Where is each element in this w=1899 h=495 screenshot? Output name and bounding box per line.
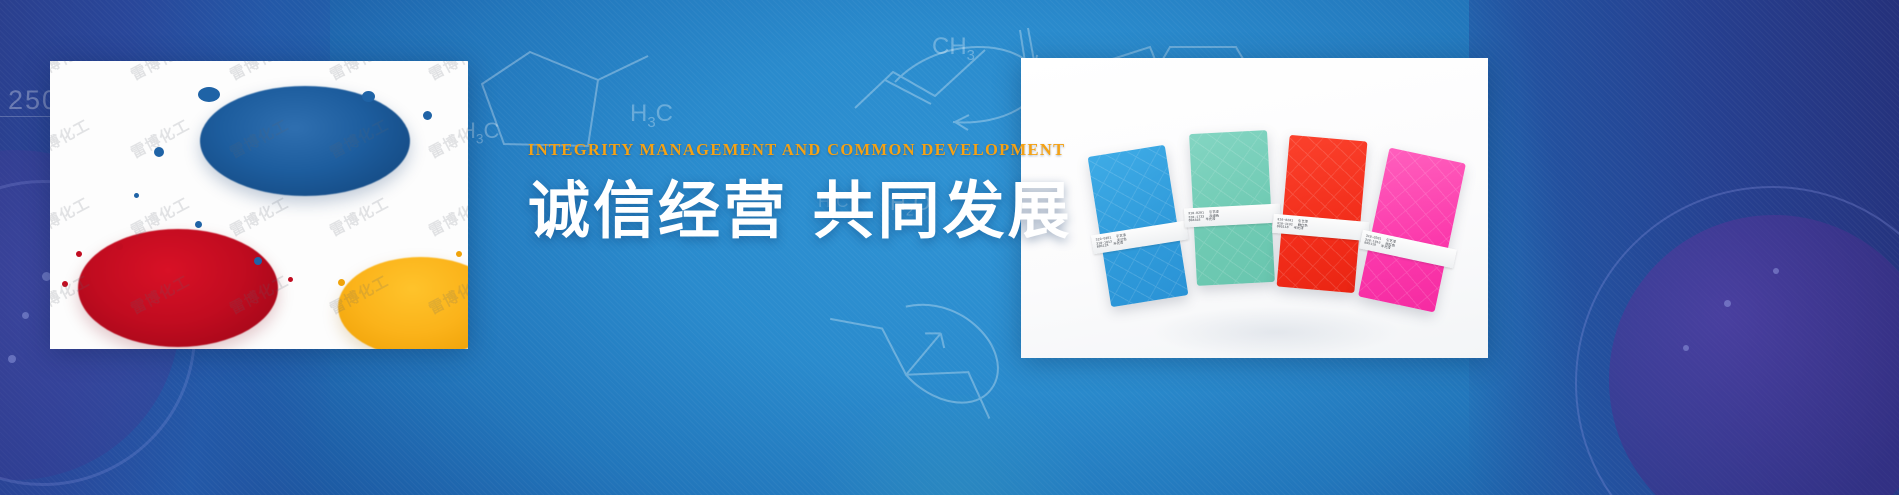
- pigment-powder-photo[interactable]: 雷博化工 雷博化工 雷博化工 雷博化工 雷博化工 雷博化工 雷博化工 雷博化工 …: [50, 61, 468, 349]
- card-cn-3: 半光漆: [1113, 242, 1123, 247]
- table-shadow: [1151, 306, 1401, 358]
- banner-eyebrow: INTEGRITY MANAGEMENT AND COMMON DEVELOPM…: [528, 140, 1028, 160]
- red-pigment-pile: [78, 229, 278, 347]
- h3c-label: H3C: [630, 100, 673, 131]
- ch3-subscript: 3: [967, 48, 975, 64]
- h3c-h-text: H: [630, 100, 647, 127]
- pigment-speck: [456, 251, 462, 257]
- card-cn-3: 半光漆: [1293, 227, 1303, 232]
- red-swatch-card: 310-0201引艺漆 310-1132鲜红色 805118半光漆: [1277, 135, 1368, 293]
- banner-headline: 诚信经营 共同发展: [528, 176, 1028, 245]
- h3c-c-text: C: [656, 100, 673, 127]
- ch3-text: CH: [932, 33, 967, 60]
- pigment-speck: [362, 91, 375, 102]
- pigment-speck: [134, 193, 139, 198]
- ch3-label: CH3: [932, 33, 975, 64]
- card-code-3: 804318: [1189, 219, 1201, 223]
- decoration-dot: [8, 355, 16, 363]
- pigment-speck: [198, 87, 220, 102]
- blue-pigment-pile: [200, 86, 410, 196]
- ring-molecule-icon: [835, 10, 1050, 145]
- card-texture: [1277, 135, 1368, 293]
- pigment-speck: [288, 277, 293, 282]
- decoration-dot: [1683, 345, 1689, 351]
- decoration-dot: [1773, 268, 1779, 274]
- pigment-speck: [254, 257, 262, 265]
- decoration-dot: [22, 312, 29, 319]
- banner-text-block: INTEGRITY MANAGEMENT AND COMMON DEVELOPM…: [528, 140, 1028, 245]
- pigment-speck: [62, 281, 68, 287]
- pigment-speck: [195, 221, 202, 228]
- green-swatch-card: 310-0201引艺漆 310-1733灰绿色 804318半光漆: [1189, 130, 1275, 286]
- decoration-dot: [1724, 300, 1731, 307]
- card-cn-3: 半光漆: [1205, 218, 1215, 222]
- h3c-subscript: 3: [647, 115, 655, 131]
- pigment-speck: [116, 243, 123, 250]
- card-cn-3: 半光漆: [1380, 245, 1390, 251]
- promo-banner: 250: [0, 0, 1899, 495]
- card-code-3: 805118: [1364, 242, 1376, 248]
- card-code-3: 805118: [1276, 226, 1288, 231]
- h3c-c-text-2: C: [483, 118, 499, 143]
- pigment-speck: [338, 279, 345, 286]
- pigment-speck: [154, 147, 164, 157]
- card-code-3: 805118: [1097, 244, 1109, 250]
- pigment-speck: [423, 111, 432, 120]
- pigment-speck: [76, 251, 82, 257]
- colour-swatch-photo[interactable]: 310-0201引艺漆 310-1013天兰色 805118半光漆 310-02…: [1021, 58, 1488, 358]
